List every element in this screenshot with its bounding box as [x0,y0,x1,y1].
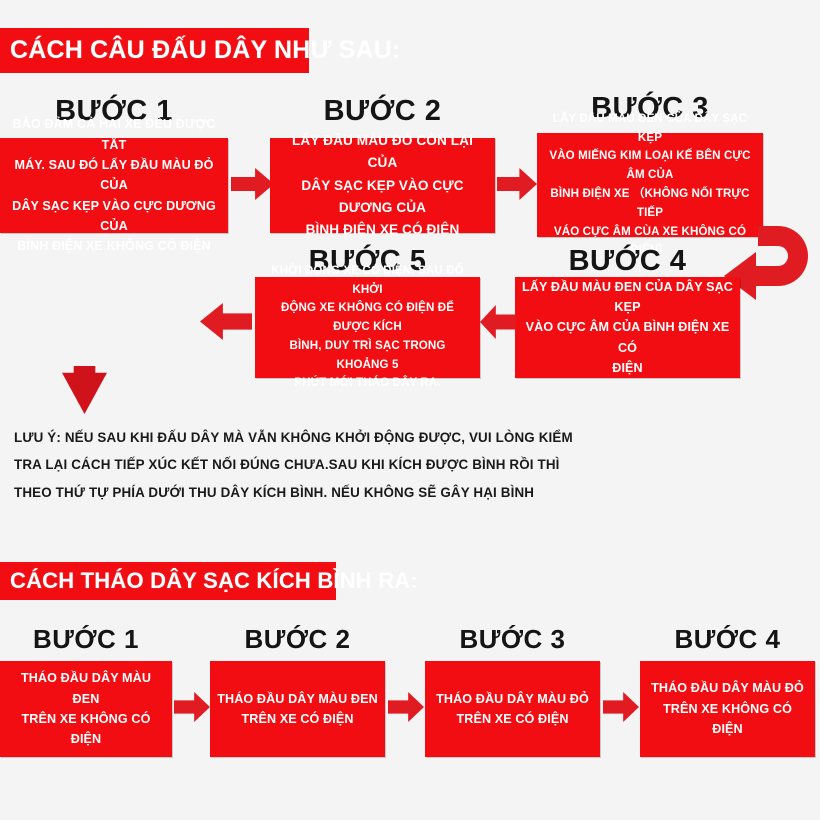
step-line: BẢO ĐẢM CẢ HAI XE ĐỀU ĐƯỢC TẮT [7,114,221,155]
arrow-down-icon-to-note [62,366,107,414]
step-line: VÀO MIẾNG KIM LOẠI KẾ BÊN CỰC ÂM CỦA [544,147,756,185]
step-line: VÀO CỰC ÂM CỦA BÌNH ĐIỆN XE CÓ [522,317,733,358]
note-line: THEO THỨ TỰ PHÍA DƯỚI THU DÂY KÍCH BÌNH.… [14,479,573,506]
step-line: ĐỘNG XE KHÔNG CÓ ĐIỆN ĐỂ ĐƯỢC KÍCH [262,299,473,337]
step-line: PHÚT MỚI THÁO DÂY RA. [262,374,473,393]
step-label-remove-1: BƯỚC 1 [0,624,172,655]
step-label-connect-4: BƯỚC 4 [515,245,740,278]
arrow-left-icon-connect-4-5 [480,305,516,339]
step-line: MÁY. SAU ĐÓ LẤY ĐẦU MÀU ĐỎ CỦA [7,155,221,196]
step-line: BÌNH ĐIỆN XE CÓ ĐIỆN [277,219,488,241]
note-line: LƯU Ý: NẾU SAU KHI ĐẤU DÂY MÀ VẪN KHÔNG … [14,424,573,451]
step-line: TRÊN XE KHÔNG CÓ ĐIỆN [7,709,165,750]
step-box-remove-2: THÁO ĐẦU DÂY MÀU ĐEN TRÊN XE CÓ ĐIỆN [210,661,385,757]
arrow-right-icon-remove-3-4 [603,692,639,722]
step-line: THÁO ĐẦU DÂY MÀU ĐỎ [647,678,808,698]
step-line: KHỞI ĐỘNG XE CÓ ĐIỆN, SAU ĐÓ KHỞI [262,262,473,300]
arrow-right-icon-remove-1-2 [174,692,210,722]
step-box-connect-2: LẤY ĐẦU MÀU ĐỎ CÒN LẠI CỦA DÂY SẠC KẸP V… [270,138,495,233]
step-box-remove-3: THÁO ĐẦU DÂY MÀU ĐỎ TRÊN XE CÓ ĐIỆN [425,661,600,757]
step-line: DÂY SẠC KẸP VÀO CỰC DƯƠNG CỦA [7,196,221,237]
step-line: TRÊN XE CÓ ĐIỆN [217,709,378,729]
step-box-remove-1: THÁO ĐẦU DÂY MÀU ĐEN TRÊN XE KHÔNG CÓ ĐI… [0,661,172,757]
note-line: TRA LẠI CÁCH TIẾP XÚC KẾT NỐI ĐÚNG CHƯA.… [14,451,573,478]
step-line: LẤY ĐẦU MÀU ĐEN CỦA DÂY SẠC KẸP [544,110,756,148]
infographic-page: CÁCH CÂU ĐẤU DÂY NHƯ SAU: BƯỚC 1 BẢO ĐẢM… [0,0,820,820]
arrow-right-icon-connect-2-3 [497,168,537,200]
step-line: BÌNH, DUY TRÌ SẠC TRONG KHOẢNG 5 [262,337,473,375]
arrow-right-icon-connect-1-2 [231,168,274,200]
arrow-right-icon-remove-2-3 [388,692,424,722]
step-box-connect-1: BẢO ĐẢM CẢ HAI XE ĐỀU ĐƯỢC TẮT MÁY. SAU … [0,138,228,233]
step-line: THÁO ĐẦU DÂY MÀU ĐEN [7,668,165,709]
step-line: DÂY SẠC KẸP VÀO CỰC DƯƠNG CỦA [277,175,488,219]
step-line: BÌNH ĐIỆN XE KHÔNG CÓ ĐIỆN [7,236,221,256]
step-label-remove-2: BƯỚC 2 [210,624,385,655]
arrow-left-icon-connect-5-out [200,303,252,340]
step-line: TRÊN XE KHÔNG CÓ ĐIỆN [647,699,808,740]
section-connect-banner: CÁCH CÂU ĐẤU DÂY NHƯ SAU: [0,28,309,73]
step-line: LẤY ĐẦU MÀU ĐỎ CÒN LẠI CỦA [277,130,488,174]
step-box-remove-4: THÁO ĐẦU DÂY MÀU ĐỎ TRÊN XE KHÔNG CÓ ĐIỆ… [640,661,815,757]
step-line: THÁO ĐẦU DÂY MÀU ĐỎ [432,689,593,709]
section-remove-banner: CÁCH THÁO DÂY SẠC KÍCH BÌNH RA: [0,562,336,600]
step-label-connect-2: BƯỚC 2 [270,95,495,128]
step-label-remove-4: BƯỚC 4 [640,624,815,655]
step-line: TRÊN XE CÓ ĐIỆN [432,709,593,729]
step-line: BÌNH ĐIỆN XE （KHÔNG NỐI TRỰC TIẾP [544,185,756,223]
step-label-remove-3: BƯỚC 3 [425,624,600,655]
connect-note-paragraph: LƯU Ý: NẾU SAU KHI ĐẤU DÂY MÀ VẪN KHÔNG … [14,424,573,506]
step-box-connect-4: LẤY ĐẦU MÀU ĐEN CỦA DÂY SẠC KẸP VÀO CỰC … [515,277,740,378]
step-line: THÁO ĐẦU DÂY MÀU ĐEN [217,689,378,709]
step-box-connect-5: KHỞI ĐỘNG XE CÓ ĐIỆN, SAU ĐÓ KHỞI ĐỘNG X… [255,277,480,378]
step-line: ĐIỆN [522,358,733,378]
step-line: LẤY ĐẦU MÀU ĐEN CỦA DÂY SẠC KẸP [522,277,733,318]
